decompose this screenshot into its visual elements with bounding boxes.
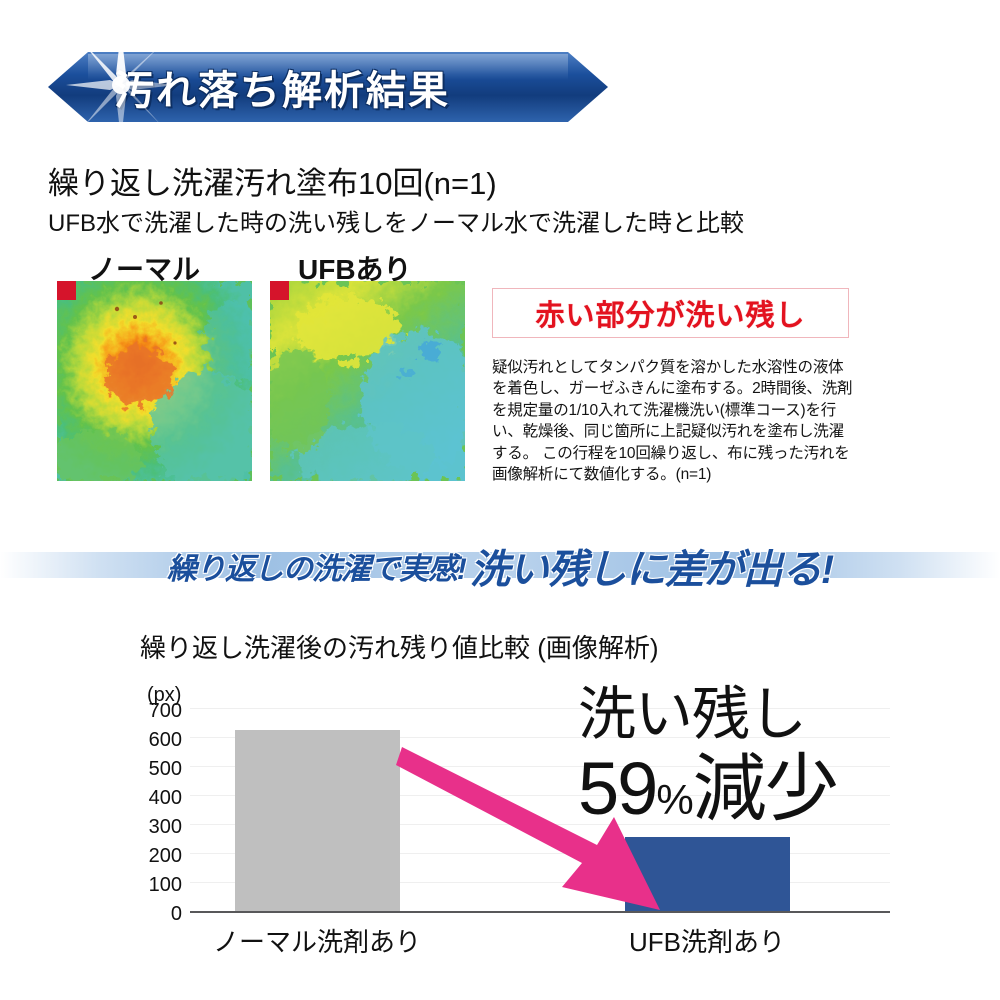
heatmap-normal [57, 281, 252, 481]
reduction-suffix: 減少 [693, 747, 837, 830]
reduction-callout-title: 洗い残し [578, 686, 837, 744]
emphasis-band-big-text: 洗い残しに差が出る! [470, 537, 833, 595]
red-residue-callout: 赤い部分が洗い残し [492, 288, 849, 338]
method-note: 疑似汚れとしてタンパク質を溶かした水溶性の液体を着色し、ガーゼふきんに塗布する。… [492, 357, 854, 485]
bar-normal [235, 730, 400, 911]
ytick-0: 0 [112, 904, 182, 924]
heatmap-ufb-marker [270, 281, 289, 300]
ytick-500: 500 [112, 759, 182, 779]
title-banner: 汚れ落ち解析結果 [48, 52, 608, 122]
chart-title: 繰り返し洗濯後の汚れ残り値比較 (画像解析) [140, 628, 659, 665]
reduction-callout-value: 59%減少 [578, 750, 837, 828]
ytick-200: 200 [112, 846, 182, 866]
heatmap-ufb [270, 281, 465, 481]
banner-title-text: 汚れ落ち解析結果 [48, 52, 608, 122]
reduction-number: 59 [578, 747, 656, 830]
red-residue-callout-text: 赤い部分が洗い残し [535, 292, 805, 334]
ytick-600: 600 [112, 730, 182, 750]
intro-line-1: 繰り返し洗濯汚れ塗布10回(n=1) [48, 158, 497, 203]
emphasis-band: 繰り返しの洗濯で実感! 洗い残しに差が出る! [0, 540, 1000, 592]
reduction-percent-sign: % [656, 776, 692, 823]
ytick-100: 100 [112, 875, 182, 895]
emphasis-band-small-text: 繰り返しの洗濯で実感! [167, 544, 466, 588]
reduction-callout: 洗い残し 59%減少 [578, 686, 837, 828]
intro-line-2: UFB水で洗濯した時の洗い残しをノーマル水で洗濯した時と比較 [48, 203, 744, 238]
heatmap-normal-marker [57, 281, 76, 300]
ytick-700: 700 [112, 701, 182, 721]
xlabel-normal: ノーマル洗剤あり [197, 922, 437, 959]
infographic-page: 汚れ落ち解析結果 繰り返し洗濯汚れ塗布10回(n=1) UFB水で洗濯した時の洗… [0, 0, 1000, 1000]
xlabel-ufb: UFB洗剤あり [587, 922, 827, 959]
ytick-400: 400 [112, 788, 182, 808]
ytick-300: 300 [112, 817, 182, 837]
